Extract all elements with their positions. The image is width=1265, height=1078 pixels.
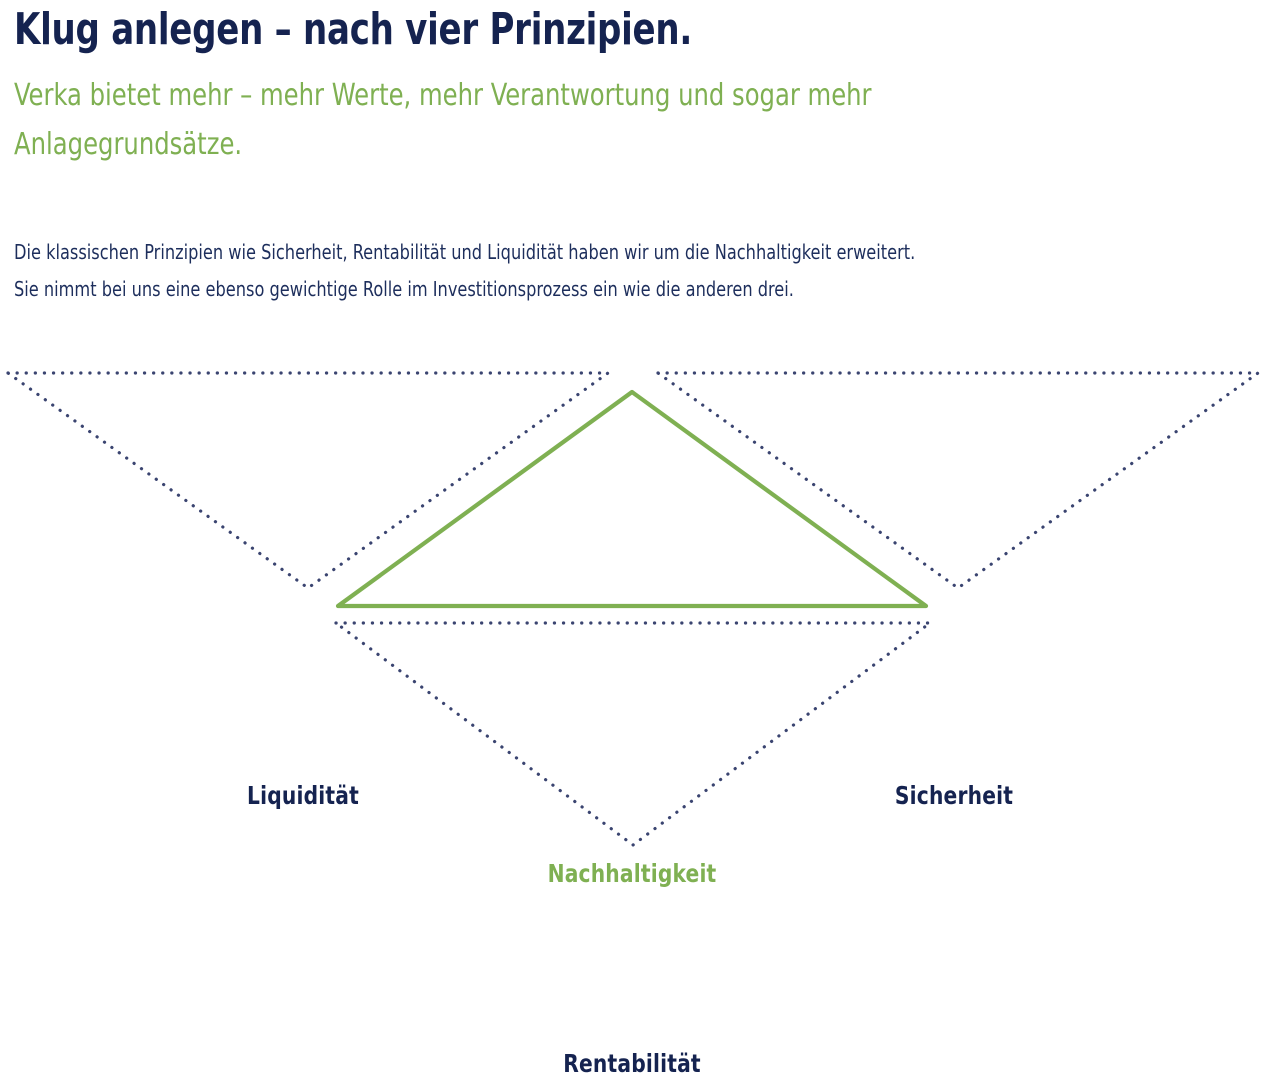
intro-paragraph: Die klassischen Prinzipien wie Sicherhei… xyxy=(14,234,1175,308)
intro-paragraph-line: Sie nimmt bei uns eine ebenso gewichtige… xyxy=(14,271,1175,308)
principles-diagram: Liquidität Sicherheit Rentabilität Nachh… xyxy=(0,340,1265,879)
rentabilitaet-triangle-outline xyxy=(336,623,930,845)
intro-paragraph-line: Die klassischen Prinzipien wie Sicherhei… xyxy=(14,234,1175,271)
triangle-label-sicherheit: Sicherheit xyxy=(895,781,1013,810)
liquiditaet-triangle-outline xyxy=(8,373,608,588)
nachhaltigkeit-triangle-outline xyxy=(338,392,926,606)
triangle-label-nachhaltigkeit: Nachhaltigkeit xyxy=(548,859,717,888)
page-title: Klug anlegen – nach vier Prinzipien. xyxy=(14,6,1046,54)
sicherheit-triangle-outline xyxy=(658,373,1258,588)
triangle-label-liquiditaet: Liquidität xyxy=(247,781,359,810)
triangle-label-rentabilitaet: Rentabilität xyxy=(563,1049,701,1078)
page-subtitle: Verka bietet mehr – mehr Werte, mehr Ver… xyxy=(14,72,1103,170)
